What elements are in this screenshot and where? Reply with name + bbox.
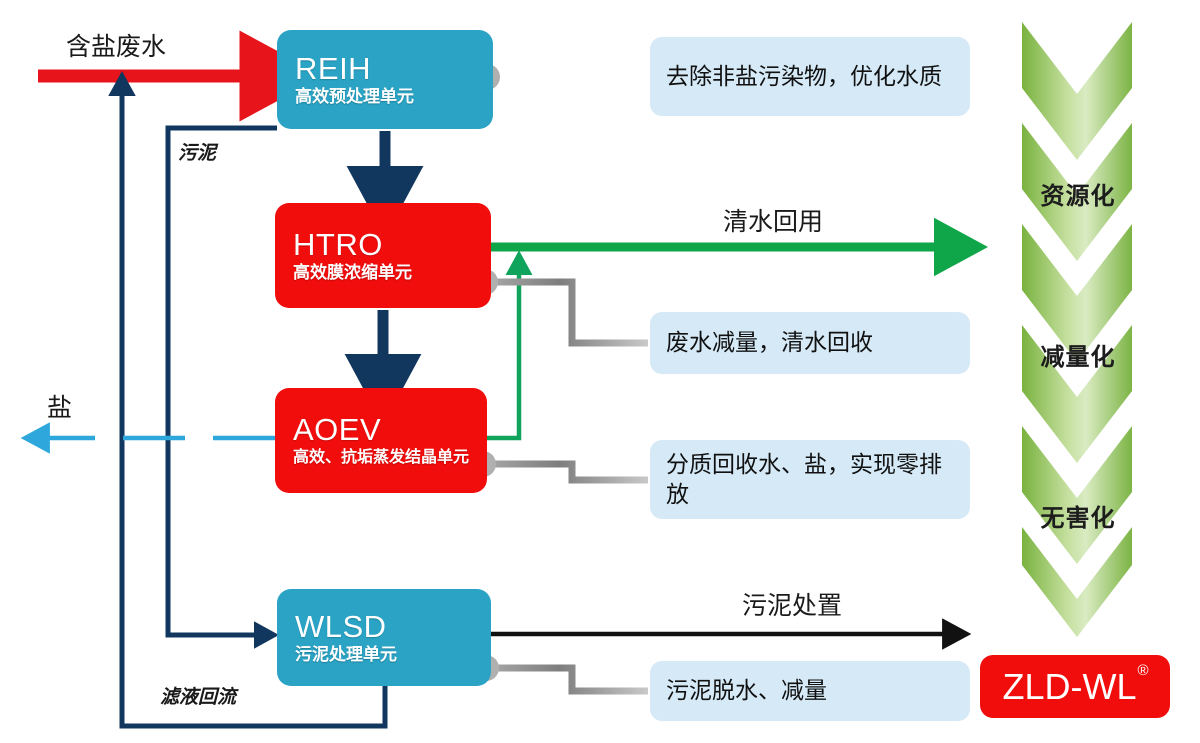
unit-subtitle-htro: 高效膜浓缩单元 (293, 263, 491, 282)
process-diagram-canvas: REIH 高效预处理单元 HTRO 高效膜浓缩单元 AOEV 高效、抗垢蒸发结晶… (0, 0, 1200, 743)
unit-box-aoev[interactable]: AOEV 高效、抗垢蒸发结晶单元 (275, 388, 487, 493)
registered-mark-icon: ® (1137, 662, 1148, 679)
unit-code-aoev: AOEV (293, 414, 487, 447)
unit-code-wlsd: WLSD (295, 611, 491, 644)
flow-label-filtrate-return: 滤液回流 (160, 682, 236, 709)
unit-box-wlsd[interactable]: WLSD 污泥处理单元 (277, 589, 491, 686)
unit-box-reih[interactable]: REIH 高效预处理单元 (277, 30, 493, 129)
flow-label-sludge: 污泥 (178, 138, 216, 165)
leader-aoev (470, 451, 648, 480)
unit-subtitle-wlsd: 污泥处理单元 (295, 645, 491, 664)
chevron-label-resource: 资源化 (1030, 176, 1126, 211)
callout-text-wlsd: 污泥脱水、减量 (666, 676, 827, 706)
unit-box-htro[interactable]: HTRO 高效膜浓缩单元 (275, 203, 491, 308)
callout-text-aoev: 分质回收水、盐，实现零排放 (666, 450, 954, 510)
callout-htro[interactable]: 废水减量，清水回收 (650, 312, 970, 374)
flow-label-clear-water-reuse: 清水回用 (723, 202, 823, 238)
callout-text-reih: 去除非盐污染物，优化水质 (666, 62, 942, 92)
flow-label-feed: 含盐废水 (66, 27, 166, 63)
callout-aoev[interactable]: 分质回收水、盐，实现零排放 (650, 440, 970, 519)
chevron-label-harmless: 无害化 (1030, 498, 1126, 533)
unit-subtitle-reih: 高效预处理单元 (295, 87, 493, 106)
zld-wl-logo-label: ZLD-WL (1002, 666, 1136, 707)
flow-line-sludge (168, 128, 277, 635)
callout-text-htro: 废水减量，清水回收 (666, 328, 873, 358)
callout-reih[interactable]: 去除非盐污染物，优化水质 (650, 37, 970, 116)
callout-wlsd[interactable]: 污泥脱水、减量 (650, 661, 970, 721)
chevron-label-reduction: 减量化 (1030, 337, 1126, 372)
chevron-stack-shapes (1022, 22, 1132, 637)
unit-subtitle-aoev: 高效、抗垢蒸发结晶单元 (293, 449, 487, 467)
unit-code-reih: REIH (295, 53, 493, 86)
leader-reih (474, 64, 648, 90)
zld-wl-logo-text: ZLD-WL® (1002, 666, 1147, 708)
flow-label-sludge-disposal: 污泥处置 (742, 586, 842, 622)
flow-label-salt: 盐 (47, 388, 72, 424)
zld-wl-logo[interactable]: ZLD-WL® (980, 655, 1170, 718)
connector-layer (0, 0, 1200, 743)
leader-wlsd (473, 655, 648, 691)
unit-code-htro: HTRO (293, 229, 491, 262)
leader-htro (472, 269, 648, 343)
